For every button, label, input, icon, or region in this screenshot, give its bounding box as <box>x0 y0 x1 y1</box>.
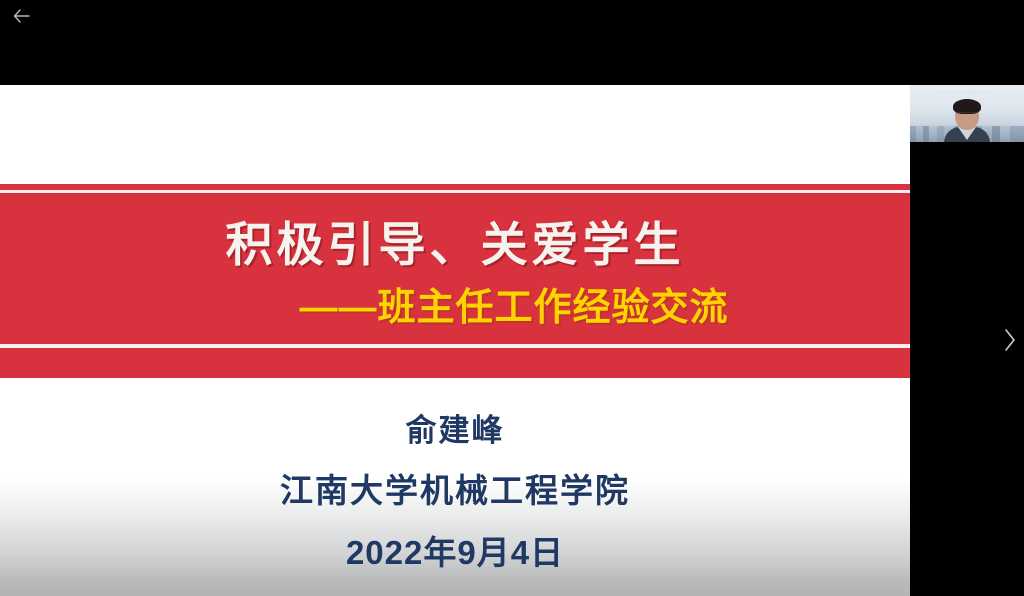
banner-rule-bottom <box>0 344 910 348</box>
slide-top-whitespace <box>0 85 910 184</box>
presenter-name: 俞建峰 <box>0 405 910 450</box>
next-slide-button[interactable] <box>996 322 1024 358</box>
right-black-gutter <box>910 158 1024 596</box>
presenter-webcam-thumbnail[interactable]: · · · · · · · · · · · · · · · · <box>910 85 1024 158</box>
slide-canvas[interactable]: 积极引导、关爱学生 ——班主任工作经验交流 俞建峰 江南大学机械工程学院 202… <box>0 85 910 596</box>
slide-title-banner: 积极引导、关爱学生 ——班主任工作经验交流 <box>0 184 910 378</box>
top-chrome-bar <box>0 0 1024 85</box>
presentation-date: 2022年9月4日 <box>0 526 910 574</box>
slide-byline-area: 俞建峰 江南大学机械工程学院 2022年9月4日 <box>0 378 910 596</box>
banner-rule-top <box>0 190 910 193</box>
slide-subtitle: ——班主任工作经验交流 <box>0 276 910 331</box>
back-arrow-icon <box>13 9 30 23</box>
back-button[interactable] <box>6 2 36 30</box>
presenter-affiliation: 江南大学机械工程学院 <box>0 464 910 512</box>
presentation-viewer: 积极引导、关爱学生 ——班主任工作经验交流 俞建峰 江南大学机械工程学院 202… <box>0 0 1024 596</box>
chevron-right-icon <box>1003 327 1017 353</box>
webcam-person-glasses <box>956 112 978 118</box>
slide-title: 积极引导、关爱学生 <box>0 206 910 275</box>
webcam-letterbox-bar <box>910 142 1024 158</box>
webcam-overlay-caption: · · · · · · · · · · · · · · · · <box>910 90 1024 95</box>
